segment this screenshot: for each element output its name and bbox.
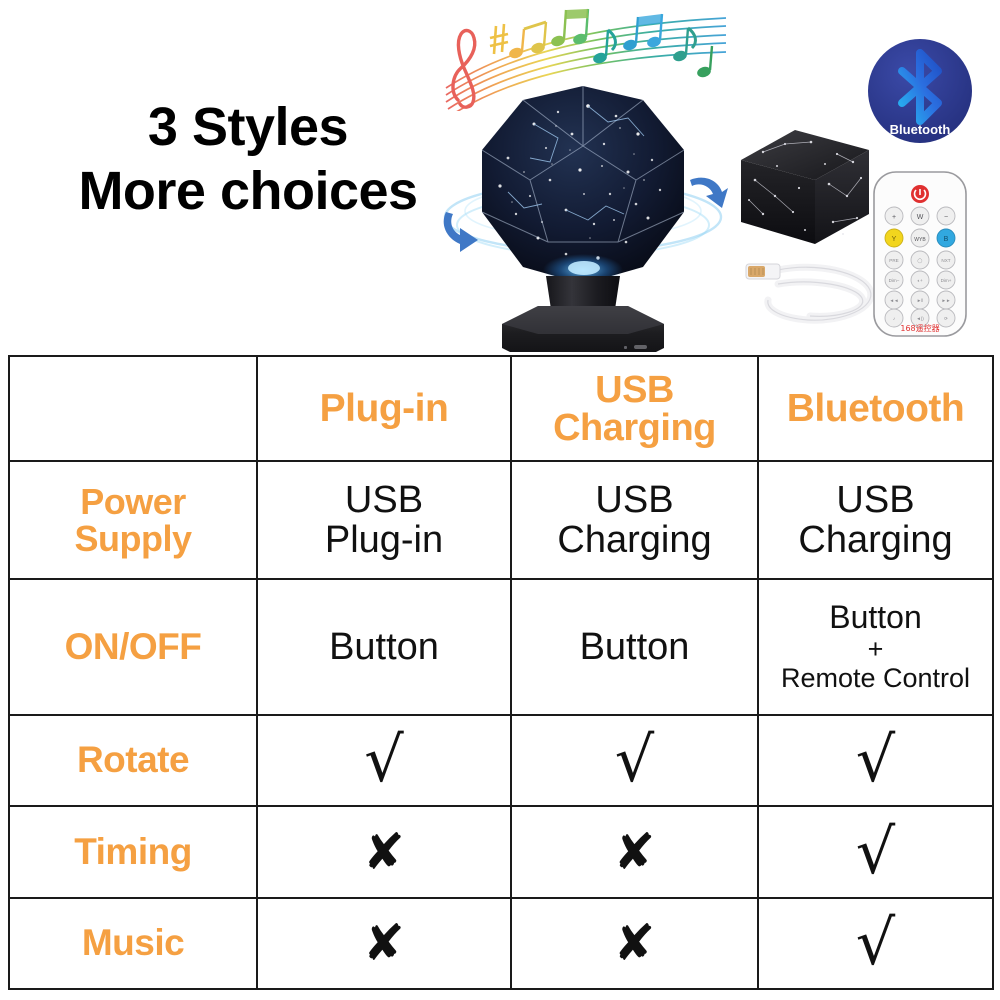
table-header-row: Plug-in USB Charging Bluetooth [9,356,993,461]
headline-line-1: 3 Styles [48,96,448,160]
svg-text:WYB: WYB [914,237,926,243]
svg-text:►►: ►► [941,298,950,303]
cell-timing-usb: ✘ [511,806,758,897]
usb-cable [738,238,884,334]
cell-onoff-bluetooth: Button + Remote Control [758,579,993,715]
svg-text:◄)): ◄)) [916,316,924,321]
cell-power-usb: USB Charging [511,461,758,579]
power-supply-line2: Supply [74,518,191,559]
cell-onoff-bt-l1: Button [761,600,990,636]
header-usb-line2: Charging [553,407,716,449]
cell-onoff-usb: Button [511,579,758,715]
bluetooth-badge-icon: Bluetooth [860,33,980,153]
headline-line-2: More choices [48,160,448,224]
header-cell-plugin: Plug-in [257,356,511,461]
remote-control[interactable]: +W− WYB Y B PRE◯NXT Dim−◐+Dim+ ◄◄►ll►► ♪… [866,168,974,340]
cell-power-plugin: USB Plug-in [257,461,511,579]
header-usb-line1: USB [595,369,674,411]
cell-onoff-plugin: Button [257,579,511,715]
cell-onoff-bt-l3: Remote Control [761,663,990,693]
svg-text:◄◄: ◄◄ [889,298,898,303]
cell-power-bt-l2: Charging [798,519,952,561]
svg-text:Dim+: Dim+ [941,278,952,283]
cell-rotate-bluetooth: √ [758,715,993,806]
row-label-rotate: Rotate [9,715,257,806]
page-title: 3 Styles More choices [48,96,448,223]
cell-music-plugin: ✘ [257,898,511,989]
table-row: Music ✘ ✘ √ [9,898,993,989]
cell-power-usb-l2: Charging [557,519,711,561]
cell-onoff-bt-l2: + [761,636,990,663]
header-cell-usb-charging: USB Charging [511,356,758,461]
cell-timing-bluetooth: √ [758,806,993,897]
cell-rotate-plugin: √ [257,715,511,806]
cell-power-bluetooth: USB Charging [758,461,993,579]
comparison-table-wrapper: Plug-in USB Charging Bluetooth Power Sup… [8,355,992,990]
star-projector-lamp [438,62,728,352]
table-row: Power Supply USB Plug-in USB Charging US… [9,461,993,579]
table-row: Timing ✘ ✘ √ [9,806,993,897]
table-row: ON/OFF Button Button Button + Remote Con… [9,579,993,715]
hero-section: 3 Styles More choices [0,0,1000,352]
svg-text:Y: Y [892,236,897,243]
cell-music-usb: ✘ [511,898,758,989]
svg-text:B: B [944,236,949,243]
table-row: Rotate √ √ √ [9,715,993,806]
svg-text:W: W [917,214,924,221]
svg-text:♪: ♪ [893,316,895,321]
cell-music-bluetooth: √ [758,898,993,989]
svg-text:−: − [944,214,948,221]
svg-text:◐+: ◐+ [917,278,923,283]
row-label-power-supply: Power Supply [9,461,257,579]
cell-power-plugin-l2: Plug-in [325,519,443,561]
svg-text:PRE: PRE [889,258,898,263]
svg-text:Dim−: Dim− [889,278,900,283]
cell-timing-plugin: ✘ [257,806,511,897]
cell-power-bt-l1: USB [836,479,914,521]
cell-power-usb-l1: USB [595,479,673,521]
svg-text:NXT: NXT [941,258,950,263]
header-cell-empty [9,356,257,461]
cell-power-plugin-l1: USB [345,479,423,521]
remote-model-label: 168遥控器 [900,323,939,333]
power-supply-line1: Power [80,481,186,522]
row-label-timing: Timing [9,806,257,897]
bluetooth-badge-label: Bluetooth [890,122,951,137]
row-label-on-off: ON/OFF [9,579,257,715]
row-label-music: Music [9,898,257,989]
comparison-table: Plug-in USB Charging Bluetooth Power Sup… [8,355,994,990]
svg-text:►ll: ►ll [917,298,924,303]
svg-text:+: + [892,214,896,221]
cell-rotate-usb: √ [511,715,758,806]
product-comparison-infographic: 3 Styles More choices [0,0,1000,1000]
header-cell-bluetooth: Bluetooth [758,356,993,461]
